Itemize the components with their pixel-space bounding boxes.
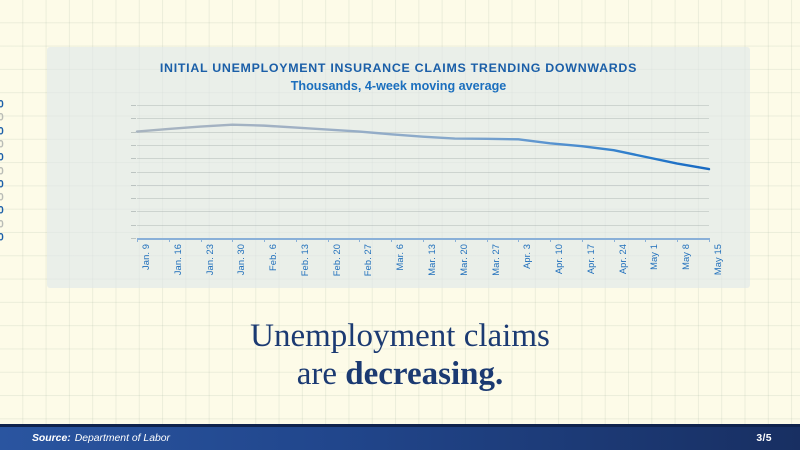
y-axis-tick-mark [131,238,136,239]
line-series [137,105,709,238]
y-axis-tick-label: 200 [0,206,4,217]
x-axis-tick-label: Mar. 20 [459,244,469,276]
x-axis-tick-label: Feb. 27 [363,244,373,276]
x-axis-tick-mark [455,238,456,242]
x-axis-tick-mark [201,238,202,242]
x-axis-tick-mark [232,238,233,242]
x-axis-tick-mark [518,238,519,242]
x-axis-tick-mark [645,238,646,242]
y-axis-tick-label: 600 [0,153,4,164]
headline-line-1: Unemployment claims [0,318,800,356]
footer-source: Source: Department of Labor [32,427,170,450]
x-axis-tick-mark [359,238,360,242]
x-axis-tick-label: May 15 [713,244,723,275]
headline-line-2: are decreasing. [0,356,800,394]
y-axis-tick-mark [131,105,136,106]
headline: Unemployment claims are decreasing. [0,318,800,393]
x-axis-tick-label: Apr. 3 [522,244,532,269]
y-axis-tick-label: 900 [0,113,4,124]
footer-page-number: 3/5 [756,427,772,450]
x-axis-tick-label: Apr. 10 [554,244,564,274]
y-axis-tick-mark [131,132,136,133]
y-axis-tick-mark [131,185,136,186]
y-axis-tick-mark [131,118,136,119]
x-axis-tick-label: Mar. 27 [491,244,501,276]
y-axis-tick-label: 400 [0,180,4,191]
footer-bar: Source: Department of Labor 3/5 [0,424,800,450]
footer-source-label: Source: [32,433,71,444]
x-axis-tick-label: Mar. 6 [395,244,405,270]
x-axis-tick-label: Jan. 30 [236,244,246,275]
x-axis-tick-label: Feb. 20 [332,244,342,276]
x-axis-tick-mark [487,238,488,242]
footer-source-value: Department of Labor [75,433,170,444]
x-axis: Jan. 9Jan. 16Jan. 23Jan. 30Feb. 6Feb. 13… [137,238,709,240]
x-axis-tick-mark [264,238,265,242]
y-axis-tick-mark [131,145,136,146]
y-axis-tick-mark [131,158,136,159]
x-axis-tick-mark [296,238,297,242]
x-axis-tick-label: Feb. 13 [300,244,310,276]
x-axis-tick-mark [423,238,424,242]
x-axis-tick-mark [582,238,583,242]
x-axis-tick-mark [391,238,392,242]
y-axis-tick-label: 500 [0,166,4,177]
x-axis-tick-mark [169,238,170,242]
y-axis-tick-label: 700 [0,140,4,151]
x-axis-tick-label: May 1 [649,244,659,270]
x-axis-tick-mark [709,238,710,242]
chart-panel: INITIAL UNEMPLOYMENT INSURANCE CLAIMS TR… [47,47,750,288]
x-axis-tick-label: Jan. 23 [205,244,215,275]
y-axis-tick-mark [131,172,136,173]
x-axis-tick-mark [550,238,551,242]
plot-wrapper: 10009008007006005004003002001000 Jan. [47,47,750,288]
x-axis-tick-mark [328,238,329,242]
y-axis-tick-label: 100 [0,219,4,230]
x-axis-tick-label: Jan. 16 [173,244,183,275]
x-axis-tick-label: Jan. 9 [141,244,151,270]
y-axis-tick-label: 800 [0,126,4,137]
x-axis-tick-label: Apr. 24 [618,244,628,274]
x-axis-tick-mark [614,238,615,242]
slide: INITIAL UNEMPLOYMENT INSURANCE CLAIMS TR… [0,0,800,450]
x-axis-tick-label: May 8 [681,244,691,270]
y-axis-tick-mark [131,198,136,199]
headline-line-2-bold: decreasing. [345,356,503,392]
x-axis-tick-label: Apr. 17 [586,244,596,274]
y-axis-tick-mark [131,225,136,226]
y-axis-tick-label: 300 [0,193,4,204]
x-axis-tick-mark [137,238,138,242]
y-axis-tick-label: 1000 [0,100,4,111]
y-axis-tick-mark [131,211,136,212]
x-axis-tick-mark [677,238,678,242]
y-axis-tick-label: 0 [0,233,4,244]
headline-line-2-light: are [297,356,346,392]
x-axis-tick-label: Mar. 13 [427,244,437,276]
x-axis-tick-label: Feb. 6 [268,244,278,271]
